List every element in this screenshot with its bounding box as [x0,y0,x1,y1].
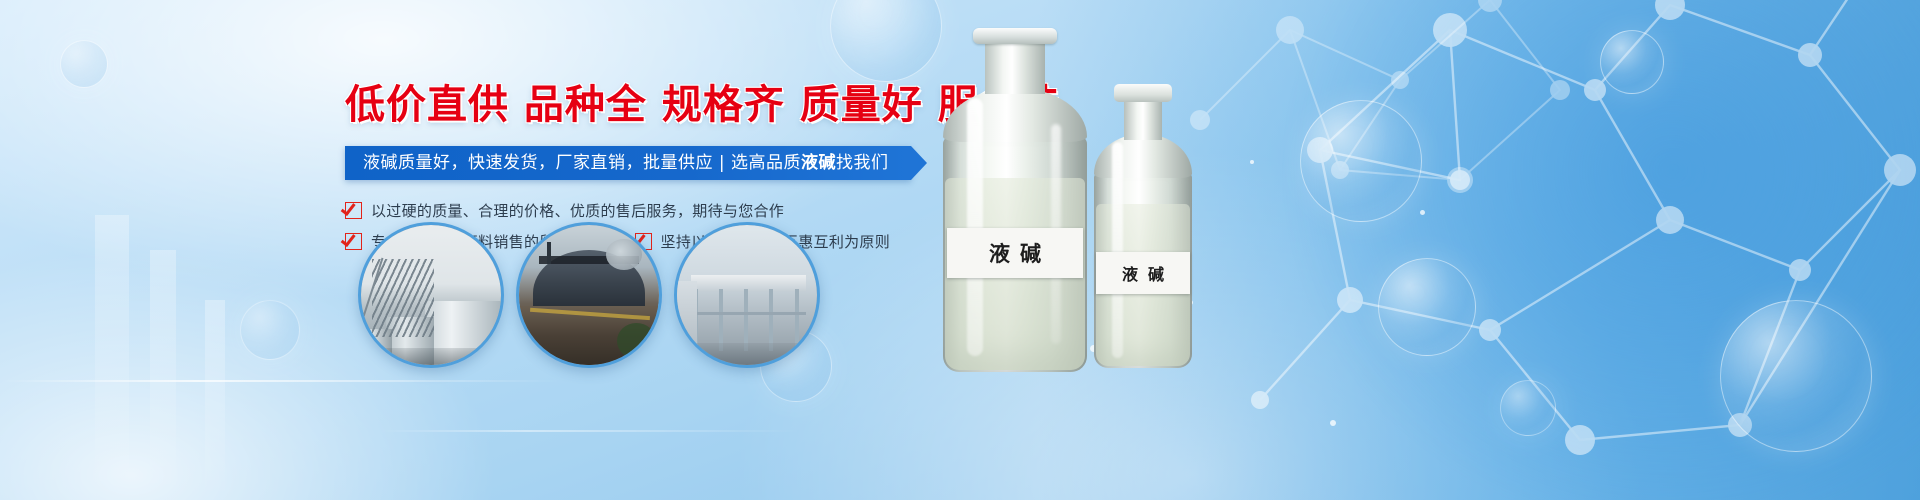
bottle-label-small: 液碱 [1096,252,1190,294]
bottle-small: 液碱 [1080,84,1206,384]
bottle-label-large: 液碱 [947,228,1083,278]
bottle-cap [1114,84,1172,102]
photo-tank-farm [358,222,504,368]
photo-thumbnail-row [358,222,820,368]
decorative-horizon-line [0,380,560,382]
decorative-light-column [150,250,176,500]
decorative-bubble [240,300,300,360]
decorative-bubble [1720,300,1872,452]
bottle-neck [1124,100,1162,140]
decorative-bubble [1378,258,1476,356]
decorative-light-column [95,215,129,500]
photo-image [361,225,501,365]
subtitle-text-tail: 找我们 [836,153,889,173]
bottle-shoulder [1094,134,1192,178]
list-item: 以过硬的质量、合理的价格、优质的售后服务，期待与您合作 [345,200,784,221]
decorative-speck [1420,210,1425,215]
decorative-bubble [1600,30,1664,94]
list-item-label: 以过硬的质量、合理的价格、优质的售后服务，期待与您合作 [371,200,784,221]
decorative-speck [1330,420,1336,426]
bottle-shoulder [943,88,1087,142]
promo-banner: 低价直供 品种全 规格齐 质量好 服务佳 液碱质量好，快速发货，厂家直销，批量供… [0,0,1920,500]
bottle-neck [985,42,1045,94]
decorative-horizon-line [380,430,800,432]
subtitle-text-emphasis: 液碱 [801,153,836,173]
check-icon [345,202,362,219]
bottle-large: 液碱 [925,28,1105,380]
bottle-label-text: 液碱 [979,238,1051,268]
bottle-cap [973,28,1057,44]
bottle-highlight [1112,142,1123,358]
decorative-light-column [205,300,225,500]
decorative-bubble [1500,380,1556,436]
subtitle-bar: 液碱质量好，快速发货，厂家直销，批量供应 | 选高品质液碱找我们 [345,146,911,180]
photo-image [519,225,659,365]
photo-plant-facility [674,222,820,368]
bottle-highlight [967,98,983,356]
bottle-label-text: 液碱 [1112,261,1174,285]
subtitle-text-main: 液碱质量好，快速发货，厂家直销，批量供应 | 选高品质 [363,153,801,173]
product-bottles: 液碱 液碱 [905,0,1325,500]
photo-image [677,225,817,365]
photo-industrial-tank [516,222,662,368]
decorative-bubble [60,40,108,88]
